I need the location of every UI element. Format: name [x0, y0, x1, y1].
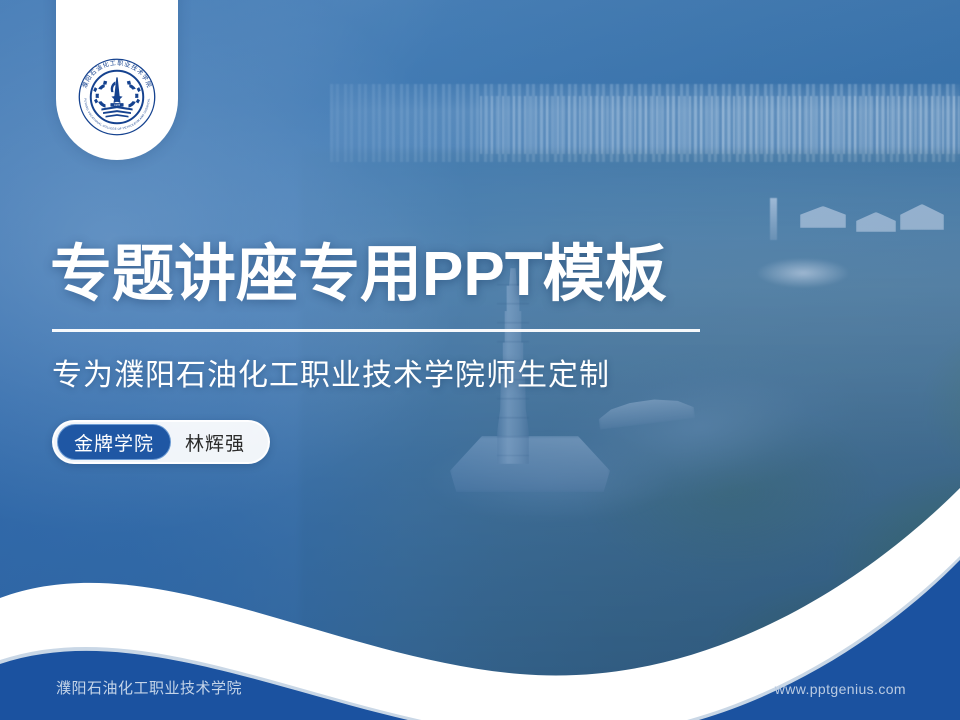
- presenter-name: 林辉强: [171, 429, 265, 456]
- presentation-cover-slide: 濮阳石油化工职业技术学院 PUYANG VOCATIONAL COLLEGE O…: [0, 0, 960, 720]
- college-logo: 濮阳石油化工职业技术学院 PUYANG VOCATIONAL COLLEGE O…: [76, 56, 158, 138]
- slide-subtitle: 专为濮阳石油化工职业技术学院师生定制: [52, 350, 610, 394]
- presenter-badge[interactable]: 金牌学院 林辉强: [52, 420, 270, 464]
- footer-institution: 濮阳石油化工职业技术学院: [56, 677, 242, 698]
- slide-title: 专题讲座专用PPT模板: [50, 244, 667, 306]
- badge-tag-label: 金牌学院: [57, 424, 171, 460]
- city-skyline-far: [480, 96, 960, 154]
- monument-column: [770, 198, 777, 240]
- footer-website[interactable]: www.pptgenius.com: [775, 681, 906, 697]
- plaza-ground: [738, 252, 868, 294]
- title-divider: [52, 329, 700, 332]
